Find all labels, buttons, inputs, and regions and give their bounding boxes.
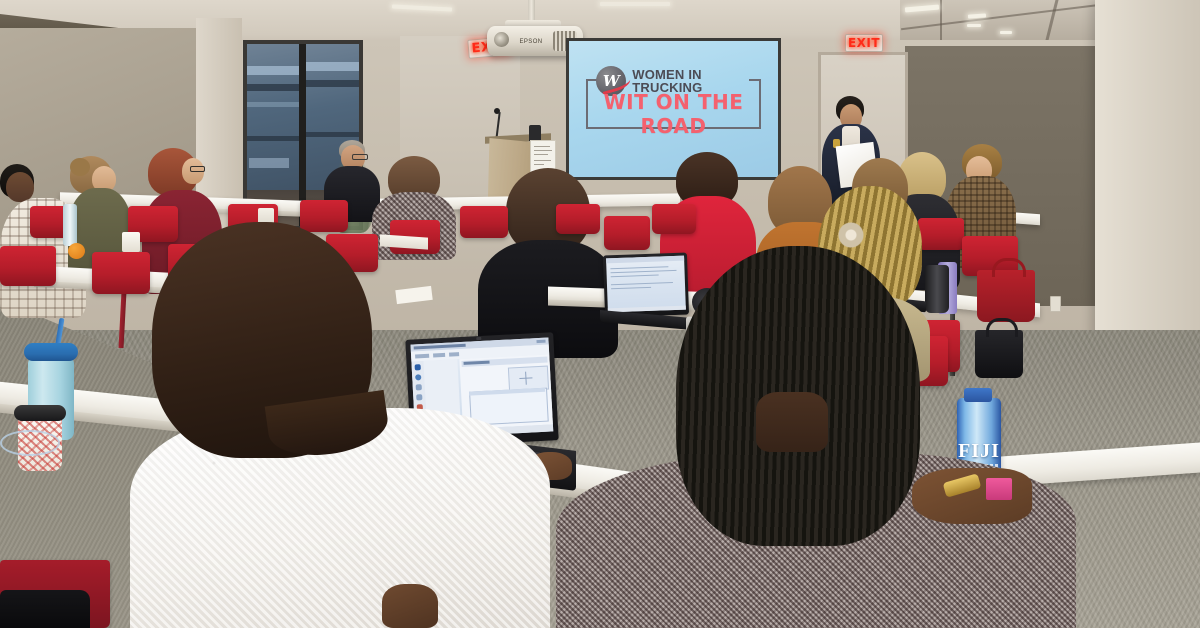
projection-screen: W WOMEN IN TRUCKING WIT ON THE ROAD	[566, 38, 781, 180]
projected-slide: W WOMEN IN TRUCKING WIT ON THE ROAD	[569, 41, 778, 177]
exit-sign: EXIT	[845, 34, 883, 52]
chair[interactable]	[460, 206, 508, 238]
water-bottle[interactable]	[63, 204, 77, 246]
chair[interactable]	[556, 204, 600, 234]
black-tumbler[interactable]	[925, 265, 949, 313]
paper-cup[interactable]	[122, 232, 140, 252]
slide-headline: WIT ON THE ROAD	[586, 90, 762, 138]
laptop-webcam-icon	[476, 337, 481, 340]
midground-laptop-screen	[606, 256, 686, 313]
slide-content: W WOMEN IN TRUCKING WIT ON THE ROAD	[586, 57, 762, 147]
chair[interactable]	[918, 218, 964, 250]
fiji-bottle-cap[interactable]	[964, 388, 992, 402]
attendee-hair-bun	[70, 158, 90, 176]
ceiling-light	[600, 2, 670, 6]
chair[interactable]	[0, 246, 56, 286]
podium-equipment	[529, 125, 541, 141]
glasses-icon	[190, 166, 205, 172]
projector-lens	[494, 32, 509, 47]
chair[interactable]	[300, 200, 348, 232]
coffee-cup-lid[interactable]	[14, 405, 66, 421]
conference-room-photo: EXIT EXIT EPSON W WOM	[0, 0, 1200, 628]
chair[interactable]	[92, 252, 150, 294]
attendee-hand	[382, 584, 438, 628]
ceiling-light	[967, 24, 981, 27]
wit-brand-line-1: WOMEN IN	[632, 68, 702, 81]
attendee-head	[6, 172, 34, 202]
red-tote-bag[interactable]	[977, 270, 1035, 322]
glasses-icon	[352, 154, 368, 160]
black-handbag[interactable]	[975, 330, 1023, 378]
midground-laptop-lid[interactable]	[603, 253, 689, 318]
exit-sign-label: EXIT	[848, 36, 880, 50]
chair-back-foreground[interactable]	[0, 590, 90, 628]
orange-fruit[interactable]	[68, 243, 85, 259]
hair-flower-accessory	[838, 222, 864, 248]
eyeglasses[interactable]	[0, 430, 60, 456]
ceiling-light	[1000, 31, 1012, 34]
tote-handle	[992, 258, 1026, 277]
chair[interactable]	[652, 204, 696, 234]
wall-outlet	[1050, 296, 1061, 312]
chair[interactable]	[604, 216, 650, 250]
pink-item[interactable]	[986, 478, 1012, 500]
tumbler-lid[interactable]	[24, 343, 78, 361]
handbag-handle	[986, 318, 1018, 337]
projector-brand-label: EPSON	[516, 39, 546, 47]
window-mullion	[299, 44, 306, 226]
attendee-neck	[756, 392, 828, 452]
